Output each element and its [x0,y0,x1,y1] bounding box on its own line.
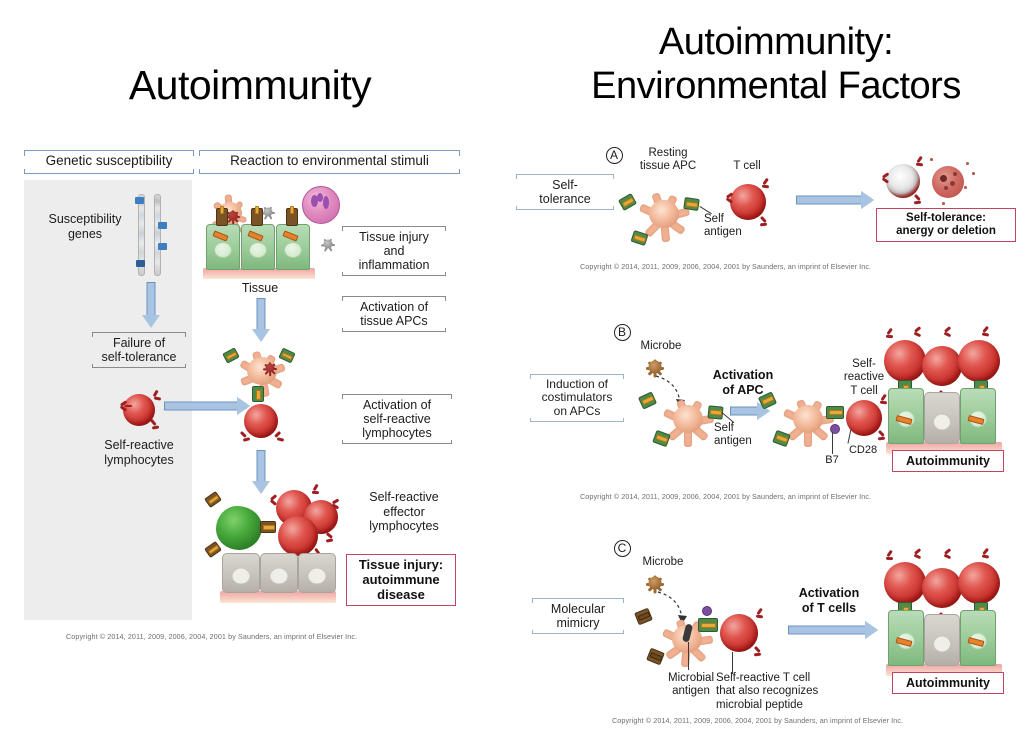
cell-nucleus [308,568,327,585]
label-tissue-injury-inflammation: Tissue injury and inflammation [342,226,446,276]
peptide [256,390,261,400]
panel-a-arrow [796,190,874,210]
panel-a-outcome-box: Self-tolerance: anergy or deletion [876,208,1016,242]
tissue-cell [241,224,275,270]
peptide [263,525,275,530]
label-line: T cell [720,160,774,173]
label-line: Self-reactive [76,438,202,453]
mhc-complex [286,208,298,226]
label-line: Microbial [660,672,722,685]
label-line: Activation [780,586,878,601]
damaged-tissue-cell [924,614,960,666]
panel-c-letter: C [612,540,632,557]
peptide [255,206,259,214]
effector-t-cell [922,346,962,386]
page-title-right: Autoimmunity: Environmental Factors [528,20,1024,109]
inflammatory-cell [302,186,340,224]
mhc-complex [204,491,222,508]
slide-canvas: Autoimmunity Autoimmunity: Environmental… [0,0,1024,745]
label-line: Tissue [229,281,291,296]
leader-line-b7 [832,432,833,454]
label-line: inflammation [359,258,430,272]
label-line: Autoimmunity [898,454,998,468]
panel-b: B Induction of costimulators on APCs Mic… [508,320,1020,510]
panel-c-label-self-reactive: Self-reactive T cell that also recognize… [716,672,862,712]
effector-t-cell [958,562,1000,604]
effector-t-cell [922,568,962,608]
outcome-tissue-injury-box: Tissue injury: autoimmune disease [346,554,456,606]
t-cell [730,184,766,220]
label-line: and [384,244,405,258]
header-genetic-susceptibility-label: Genetic susceptibility [46,153,173,168]
damaged-tissue-cell [298,553,336,593]
tissue-cell [888,388,924,444]
peptide [761,395,774,405]
self-reactive-lymphocyte-engaged [236,400,288,448]
label-line: costimulators [542,390,613,404]
label-line: Self [714,422,768,435]
gene-marker [135,197,144,204]
label-line: disease [352,588,450,603]
cell-nucleus [933,414,951,431]
panel-a-outcome-cells [880,156,986,216]
cell-nucleus [933,636,951,653]
peptide [637,612,650,621]
panel-b-attack-cluster [882,326,1022,456]
panel-c-label-microbe: Microbe [632,556,694,569]
panel-a-label-t-cell: T cell [720,160,774,173]
microbe-red-icon [262,360,278,376]
label-line: Autoimmunity [898,676,998,690]
label-line: effector [348,505,460,520]
cell-nucleus [249,242,267,258]
label-failure-self-tolerance: Failure of self-tolerance [92,332,186,368]
label-line: anergy or deletion [882,225,1010,238]
peptide [641,395,654,405]
peptide [649,652,662,661]
tissue-cell [206,224,240,270]
mhc-complex [251,208,263,226]
peptide [775,434,788,443]
label-line: Molecular [551,602,605,616]
damaged-tissue-cell [222,553,260,593]
peptide [622,197,635,207]
panel-c-label-microbial-antigen: Microbial antigen [660,672,722,699]
left-figure: Genetic susceptibility Reaction to envir… [24,150,460,650]
label-line: tissue APCs [360,314,427,328]
panel-c-attack-cluster [882,548,1022,678]
label-line: Self-reactive [348,490,460,505]
cell-nucleus [232,568,251,585]
label-tissue: Tissue [229,281,291,296]
self-antigen-peptide [282,230,298,241]
peptide [226,351,238,360]
label-line: Self- [552,178,578,192]
label-line: Activation of [363,398,431,412]
label-line: tolerance [539,192,590,206]
peptide [290,206,294,214]
target-tissue-row [888,610,996,666]
cell-nucleus [214,242,232,258]
panel-c-arrow [788,620,878,640]
effector-t-cell [884,340,926,382]
label-line: Susceptibility [32,212,138,227]
self-antigen-peptide [212,230,228,241]
label-line: that also recognizes [716,685,862,698]
label-susceptibility-genes: Susceptibility genes [32,212,138,241]
arrow-down-genetics [140,282,162,328]
damaged-tissue-cell [260,553,298,593]
label-line: Activation of [360,300,428,314]
label-line: Resting [626,147,710,160]
label-line: Self-tolerance: [882,212,1010,225]
target-tissue-row [888,388,996,444]
peptide [220,206,224,214]
label-line: Self-reactive T cell [716,672,862,685]
panel-a-bracket-self-tolerance: Self- tolerance [516,174,614,210]
label-line: Activation [700,368,786,383]
effector-t-cell [884,562,926,604]
panel-c: C Molecular mimicry Microbe [508,530,1020,730]
label-line: mimicry [556,616,599,630]
chromosome-right [154,194,161,276]
label-line: Failure of [113,336,165,350]
label-activation-tissue-apcs: Activation of tissue APCs [342,296,446,332]
label-line: microbial peptide [716,699,862,712]
label-line: antigen [660,685,722,698]
tissue-epithelium [206,224,310,270]
label-line: tissue APC [626,160,710,173]
self-antigen-peptide [247,230,263,241]
gene-marker [136,260,145,267]
label-self-reactive-lymphocytes: Self-reactive lymphocytes [76,438,202,467]
label-line: Tissue injury: [352,558,450,573]
label-line: antigen [714,435,768,448]
label-line: genes [32,227,138,242]
label-line: lymphocytes [362,426,431,440]
page-title-left: Autoimmunity [40,62,460,109]
leader-line-self-reactive-c [732,652,733,674]
leader-line-microbial-antigen [688,642,689,670]
peptide [281,352,293,360]
arrow-down-to-apc [250,298,272,342]
label-line: self-tolerance [101,350,176,364]
chromosome-pair [134,194,168,276]
label-line: Tissue injury [359,230,429,244]
panel-c-bracket-molecular-mimicry: Molecular mimicry [532,598,624,634]
page-title-right-line1: Autoimmunity: [528,20,1024,64]
panel-b-letter: B [612,324,632,341]
panel-b-label-self-antigen: Self antigen [714,422,768,449]
panel-a-label-resting-apc: Resting tissue APC [626,147,710,174]
panel-b-label-microbe: Microbe [630,340,692,353]
copyright-panel-b: Copyright © 2014, 2011, 2009, 2006, 2004… [580,492,871,501]
label-line: Microbe [632,556,694,569]
copyright-panel-a: Copyright © 2014, 2011, 2009, 2006, 2004… [580,262,871,271]
gene-marker [158,222,167,229]
label-activation-self-reactive-lymphocytes: Activation of self-reactive lymphocytes [342,394,452,444]
effector-t-cell [958,340,1000,382]
panel-letter-circle: C [614,540,631,557]
apoptotic-cell [932,166,964,198]
panel-c-outcome-box: Autoimmunity [892,672,1004,694]
label-line: autoimmune [352,573,450,588]
peptide [208,545,219,555]
bracket-rule-bottom [199,173,460,174]
macrophage-green [216,506,262,550]
bracket-rule-top [24,150,194,151]
panel-a: A Self- tolerance Resting tissue APC [508,140,1020,280]
bracket-rule-top [199,150,460,151]
mhc-complex [204,541,222,558]
header-genetic-susceptibility: Genetic susceptibility [24,150,194,174]
t-cell [720,614,758,652]
panel-b-outcome-box: Autoimmunity [892,450,1004,472]
header-reaction-environmental-label: Reaction to environmental stimuli [230,153,429,168]
label-line: self-reactive [363,412,430,426]
t-cell [846,400,882,436]
tissue-cell [960,388,996,444]
panel-letter-circle: A [606,147,623,164]
panel-a-letter: A [604,147,624,164]
panel-c-label-activation-tcells: Activation of T cells [780,586,878,615]
label-line: of T cells [780,601,878,616]
label-line: lymphocytes [76,453,202,468]
cell-nucleus [270,568,289,585]
cell-nucleus [284,242,302,258]
effector-t-cell [278,516,318,556]
damaged-tissue-row [222,553,336,593]
header-reaction-environmental: Reaction to environmental stimuli [199,150,460,174]
tissue-cell [888,610,924,666]
microbe-grey-icon [320,236,336,252]
panel-b-bracket-induction: Induction of costimulators on APCs [530,374,624,422]
label-line: on APCs [554,404,601,418]
self-reactive-lymphocyte-left [114,388,164,436]
anergic-t-cell [886,164,920,198]
page-title-right-line2: Environmental Factors [528,64,1024,108]
damaged-tissue-cell [924,392,960,444]
panel-letter-circle: B [614,324,631,341]
b7-molecule [702,606,712,616]
peptide [208,495,219,505]
panel-c-self-reactive-tcell [714,610,770,662]
mhc-complex [683,197,700,211]
peptide [633,234,646,242]
label-line: Induction of [546,377,608,391]
peptide [686,201,699,208]
panel-a-t-cell [720,178,778,232]
label-self-reactive-effector-lymphocytes: Self-reactive effector lymphocytes [348,490,460,534]
mhc-complex [260,521,276,533]
copyright-left: Copyright © 2014, 2011, 2009, 2006, 2004… [66,632,357,641]
tissue-cell [276,224,310,270]
t-cell [244,404,278,438]
gene-marker [158,243,167,250]
tissue-cell [960,610,996,666]
bracket-rule-bottom [24,173,194,174]
label-line: lymphocytes [348,519,460,534]
copyright-panel-c: Copyright © 2014, 2011, 2009, 2006, 2004… [612,716,903,725]
mhc-complex [216,208,228,226]
label-line: Microbe [630,340,692,353]
peptide [655,434,668,443]
